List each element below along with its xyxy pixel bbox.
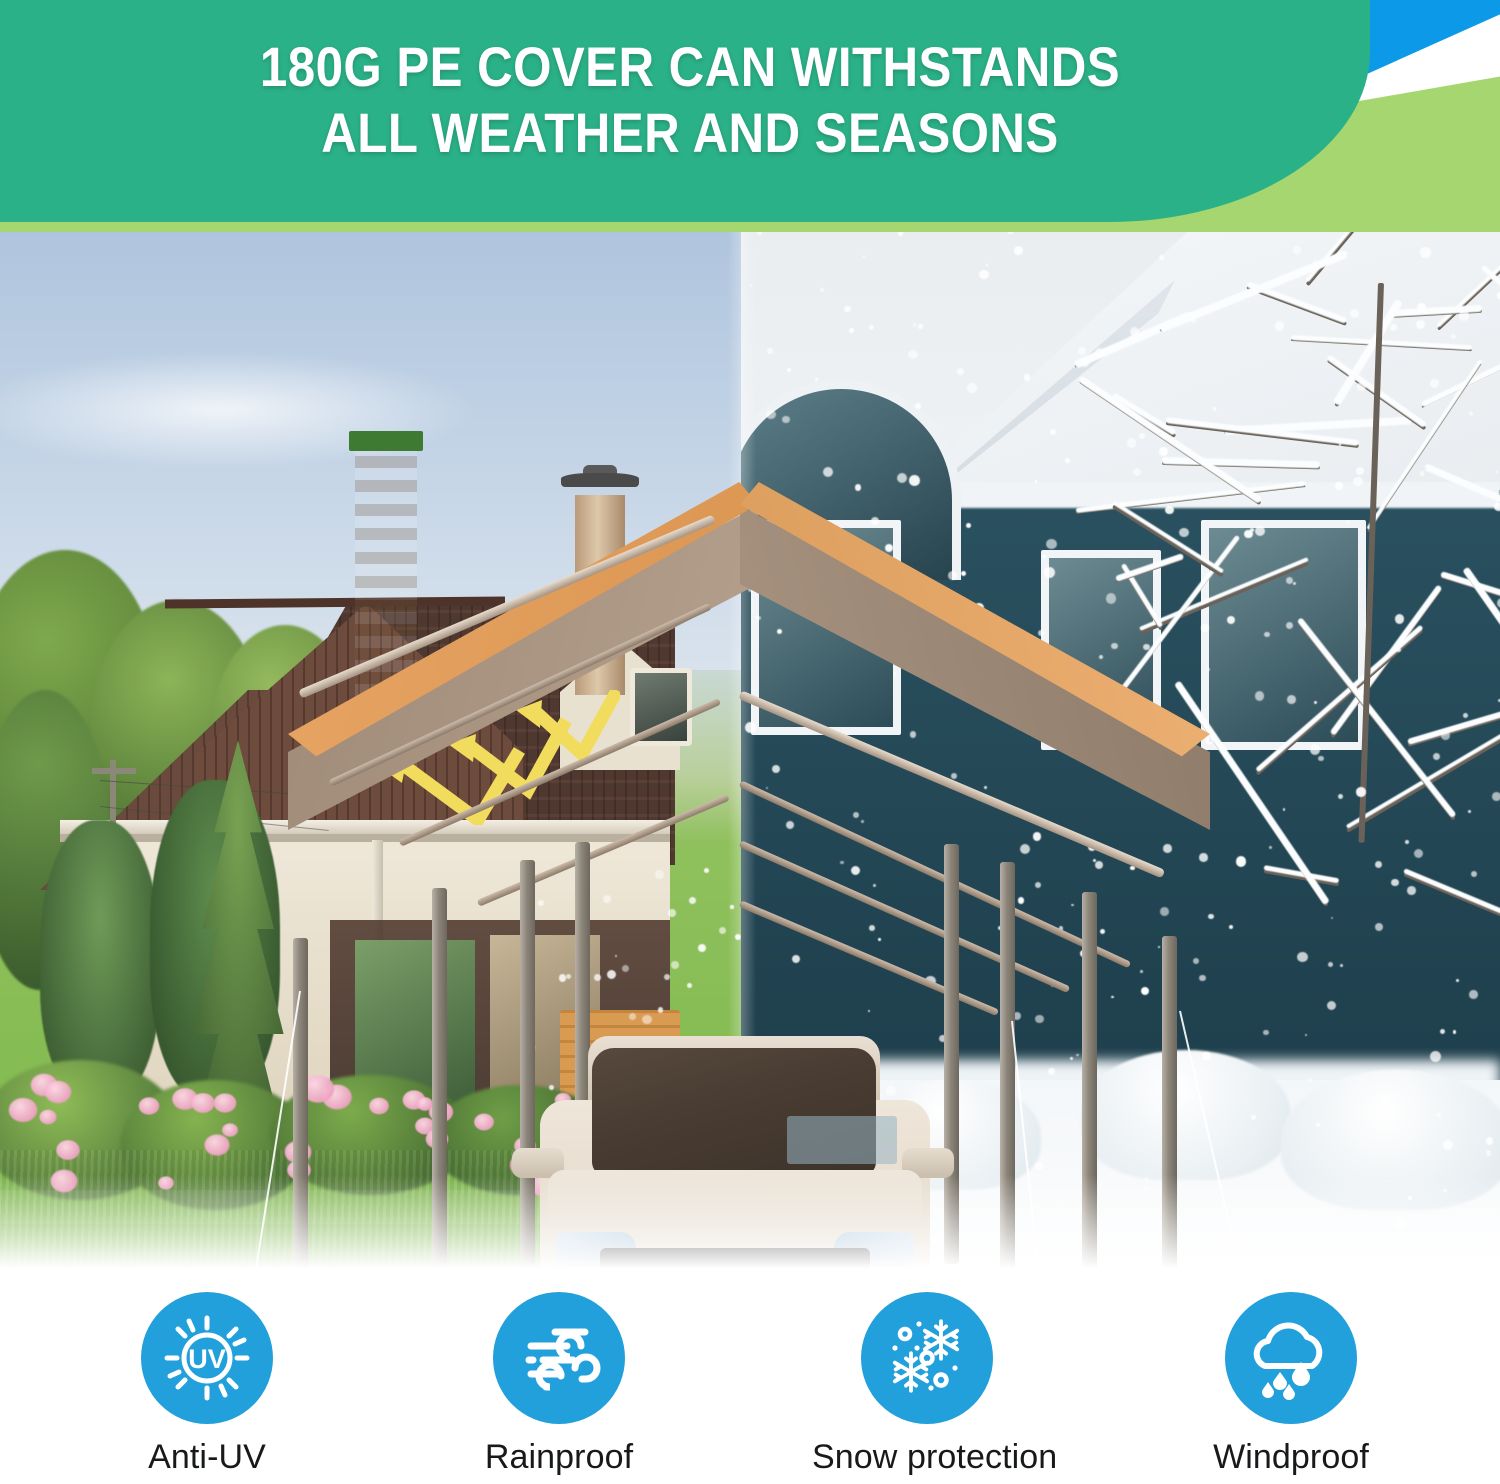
- rain-cloud-icon: [1225, 1292, 1357, 1424]
- wind-lines-icon: [493, 1292, 625, 1424]
- snow-bush: [1081, 1050, 1291, 1180]
- winter-window: [1041, 550, 1161, 750]
- season-split-blend: [728, 220, 756, 1295]
- feature-label: Anti-UV: [92, 1438, 322, 1477]
- feature-snow-protection[interactable]: Snow protection: [812, 1292, 1042, 1477]
- title-line-1: 180G PE COVER CAN WITHSTANDS: [260, 35, 1120, 98]
- sun-uv-icon: UV: [141, 1292, 273, 1424]
- feature-icon-row: UV Anti-UV: [0, 1286, 1500, 1484]
- header-banner: 180G PE COVER CAN WITHSTANDS ALL WEATHER…: [0, 0, 1500, 232]
- page-title: 180G PE COVER CAN WITHSTANDS ALL WEATHER…: [83, 34, 1297, 165]
- snow-bush: [861, 1080, 1041, 1190]
- feature-label: Snow protection: [812, 1438, 1042, 1477]
- feature-label: Rainproof: [444, 1438, 674, 1477]
- uv-reflection-arrows: [330, 690, 620, 825]
- feature-windproof[interactable]: Windproof: [1176, 1292, 1406, 1477]
- feature-label: Windproof: [1176, 1438, 1406, 1477]
- stone-chimney-secondary: [575, 495, 625, 695]
- photo-bottom-fade: [0, 1175, 1500, 1295]
- title-line-2: ALL WEATHER AND SEASONS: [83, 100, 1297, 166]
- uv-badge-text: UV: [188, 1344, 226, 1374]
- winter-window: [751, 520, 901, 735]
- gutter: [60, 834, 670, 842]
- feature-anti-uv[interactable]: UV Anti-UV: [92, 1292, 322, 1477]
- product-feature-image: 180G PE COVER CAN WITHSTANDS ALL WEATHER…: [0, 0, 1500, 1484]
- house-window: [630, 668, 692, 746]
- feature-rainproof[interactable]: Rainproof: [444, 1292, 674, 1477]
- scene-photo: [0, 220, 1500, 1295]
- winter-scene: [741, 220, 1500, 1295]
- utility-pole-arm: [92, 768, 136, 774]
- snowflakes-icon: [861, 1292, 993, 1424]
- conifer-bush: [40, 820, 160, 1100]
